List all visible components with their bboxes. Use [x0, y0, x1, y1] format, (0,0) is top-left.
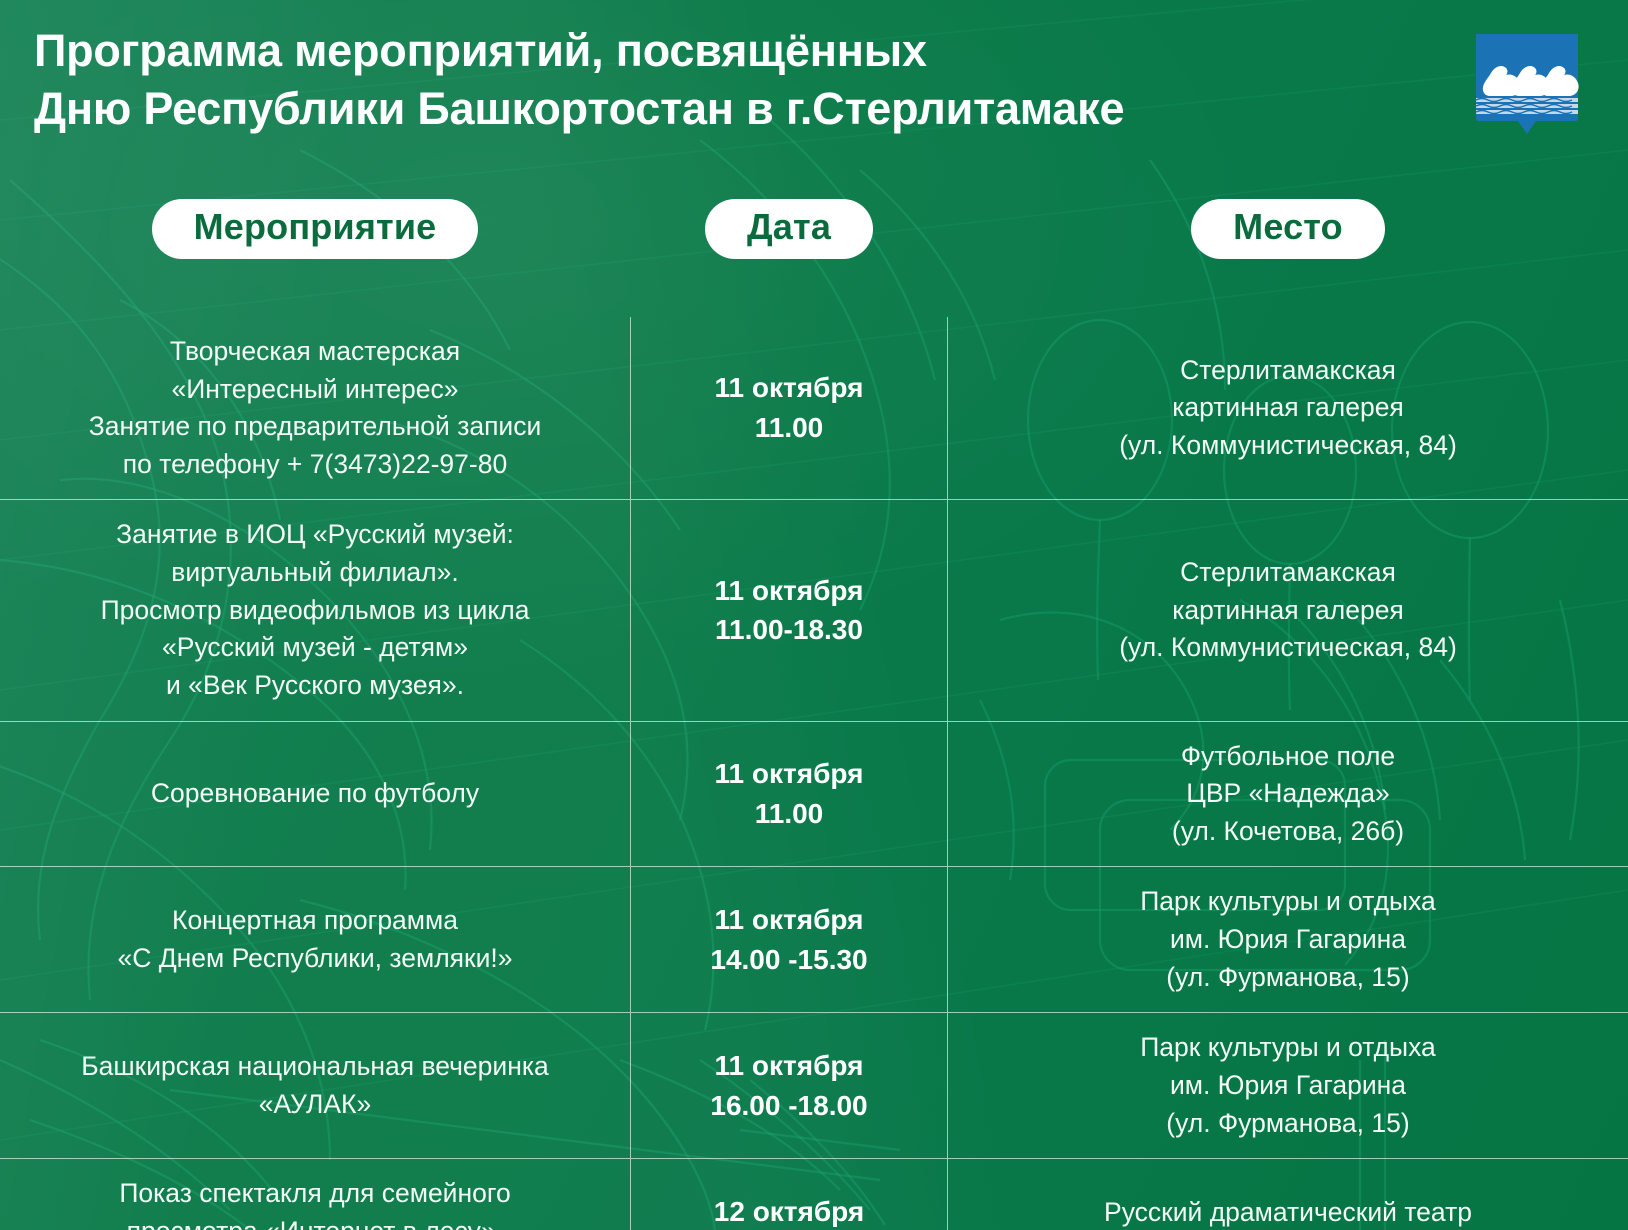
sterlitamak-shield-icon	[1474, 32, 1580, 158]
events-table: Творческая мастерская «Интересный интере…	[0, 317, 1628, 1230]
column-header-date-label: Дата	[705, 199, 873, 259]
table-row: Показ спектакля для семейного просмотра …	[0, 1158, 1628, 1230]
column-header-event-label: Мероприятие	[152, 199, 479, 259]
table-row: Концертная программа «С Днем Республики,…	[0, 866, 1628, 1012]
table-row: Занятие в ИОЦ «Русский музей: виртуальны…	[0, 499, 1628, 720]
page-title: Программа мероприятий, посвящённых Дню Р…	[34, 22, 1124, 138]
event-cell: Показ спектакля для семейного просмотра …	[0, 1159, 630, 1230]
table-row: Башкирская национальная вечеринка «АУЛАК…	[0, 1012, 1628, 1158]
date-cell: 11 октября 11.00	[630, 722, 948, 867]
event-cell: Башкирская национальная вечеринка «АУЛАК…	[0, 1013, 630, 1158]
place-cell: Парк культуры и отдыха им. Юрия Гагарина…	[948, 867, 1628, 1012]
event-cell: Концертная программа «С Днем Республики,…	[0, 867, 630, 1012]
date-cell: 11 октября 11.00	[630, 317, 948, 500]
place-cell: Футбольное поле ЦВР «Надежда» (ул. Кочет…	[948, 722, 1628, 867]
table-row: Соревнование по футболу 11 октября 11.00…	[0, 721, 1628, 867]
table-row: Творческая мастерская «Интересный интере…	[0, 317, 1628, 500]
poster-root: Программа мероприятий, посвящённых Дню Р…	[0, 0, 1628, 1230]
place-cell: Стерлитамакская картинная галерея (ул. К…	[948, 500, 1628, 720]
event-cell: Занятие в ИОЦ «Русский музей: виртуальны…	[0, 500, 630, 720]
place-cell: Парк культуры и отдыха им. Юрия Гагарина…	[948, 1013, 1628, 1158]
column-header-event: Мероприятие	[0, 199, 630, 259]
event-cell: Соревнование по футболу	[0, 722, 630, 867]
column-header-place: Место	[948, 199, 1628, 259]
event-cell: Творческая мастерская «Интересный интере…	[0, 317, 630, 500]
table-column-headers: Мероприятие Дата Место	[0, 199, 1628, 259]
date-cell: 11 октября 11.00-18.30	[630, 500, 948, 720]
place-cell: Стерлитамакская картинная галерея (ул. К…	[948, 317, 1628, 500]
date-cell: 11 октября 16.00 -18.00	[630, 1013, 948, 1158]
column-header-place-label: Место	[1191, 199, 1385, 259]
poster-header: Программа мероприятий, посвящённых Дню Р…	[0, 0, 1628, 163]
date-cell: 12 октября 12.00	[630, 1159, 948, 1230]
date-cell: 11 октября 14.00 -15.30	[630, 867, 948, 1012]
coat-of-arms-emblem	[1474, 32, 1580, 163]
column-header-date: Дата	[630, 199, 948, 259]
place-cell: Русский драматический театр (ул. Худайбе…	[948, 1159, 1628, 1230]
